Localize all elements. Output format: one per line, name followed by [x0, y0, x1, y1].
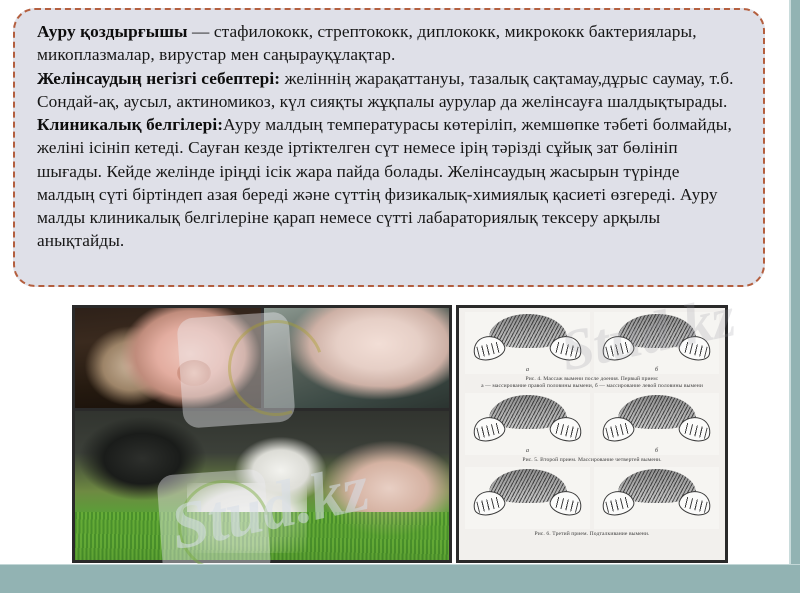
paragraph-body: Ауру малдың температурасы көтеріліп, жем… [37, 115, 732, 250]
figure-sublabel: б [655, 448, 658, 454]
figure-sublabel: а [526, 367, 529, 373]
figure-5: а б Рис. 5. Второй прием. Массирование ч… [465, 393, 719, 467]
paragraph-lead: Желінсаудың негізгі себептері: [37, 69, 280, 88]
figure-4-cell-a: а [465, 312, 590, 374]
photo-row-top [75, 308, 449, 408]
figure-5-row: а б [465, 393, 719, 455]
slide-canvas: Stud.kz Stud.kz Stud.kz Stud.kz Ауру қоз… [0, 0, 800, 593]
figure-6-caption: Рис. 6. Третий прием. Подталкивание выме… [465, 531, 719, 538]
content-textbox: Ауру қоздырғышы — стафилококк, стрептоко… [13, 8, 765, 287]
figure-caption-line2: а — массирование правой половины вымени,… [465, 383, 719, 390]
figure-panel-massage: а б Рис. 4. Массаж вымени после доения. … [456, 305, 728, 563]
frame-accent-right [791, 0, 800, 568]
photo-udder-white [264, 308, 450, 408]
image-collage: а б Рис. 4. Массаж вымени после доения. … [72, 305, 730, 563]
photo-holstein-pasture [75, 411, 449, 560]
figure-4: а б Рис. 4. Массаж вымени после доения. … [465, 312, 719, 393]
paragraph-clinical-signs: Клиникалық белгілері:Ауру малдың темпера… [37, 113, 741, 253]
photo-udder-barn [75, 308, 261, 408]
figure-sublabel: а [526, 448, 529, 454]
figure-5-cell-a: а [465, 393, 590, 455]
frame-accent-bottom [0, 565, 800, 593]
figure-caption-line1: Рис. 6. Третий прием. Подталкивание выме… [535, 531, 650, 537]
figure-caption-line1: Рис. 5. Второй прием. Массирование четве… [522, 457, 661, 463]
figure-caption-line1: Рис. 4. Массаж вымени после доения. Перв… [525, 376, 658, 382]
photo-group-left [72, 305, 452, 563]
figure-5-cell-b: б [594, 393, 719, 455]
figure-6-cell-a [465, 467, 590, 529]
paragraph-lead: Клиникалық белгілері: [37, 115, 223, 134]
paragraph-lead: Ауру қоздырғышы [37, 22, 188, 41]
figure-6-cell-b [594, 467, 719, 529]
paragraph-causes: Желінсаудың негізгі себептері: желіннің … [37, 67, 741, 114]
figure-4-row: а б [465, 312, 719, 374]
figure-sublabel: б [655, 367, 658, 373]
figure-6: Рис. 6. Третий прием. Подталкивание выме… [465, 467, 719, 541]
paragraph-pathogen: Ауру қоздырғышы — стафилококк, стрептоко… [37, 20, 741, 67]
figure-5-caption: Рис. 5. Второй прием. Массирование четве… [465, 457, 719, 464]
figure-4-cell-b: б [594, 312, 719, 374]
figure-4-caption: Рис. 4. Массаж вымени после доения. Перв… [465, 376, 719, 390]
figure-6-row [465, 467, 719, 529]
